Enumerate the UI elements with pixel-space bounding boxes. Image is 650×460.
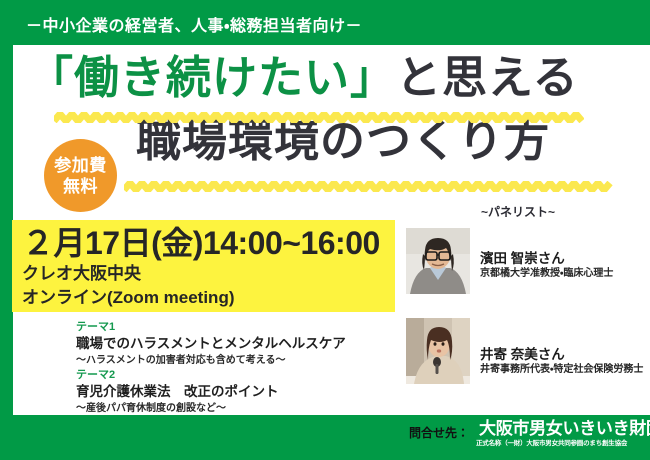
panelist-affiliation: 井寄事務所代表・特定社会保険労務士 — [480, 360, 643, 375]
theme-title: 職場でのハラスメントとメンタルヘルスケア — [76, 335, 406, 353]
panelist-photo-hamada — [406, 228, 470, 294]
event-date-time: ２月17日(金)14:00~16:00 — [22, 224, 395, 262]
title-line-1-rest: と思える — [396, 52, 579, 103]
theme-item: テーマ1 職場でのハラスメントとメンタルヘルスケア ～ハラスメントの加害者対応も… — [76, 320, 406, 368]
title-line-1: 「働き続けたい」と思える — [28, 52, 579, 104]
target-audience-label: －中小企業の経営者、人事・総務担当者向け－ — [26, 12, 362, 36]
event-info-block: ２月17日(金)14:00~16:00 クレオ大阪中央 オンライン(Zoom m… — [12, 220, 395, 312]
themes-block: テーマ1 職場でのハラスメントとメンタルヘルスケア ～ハラスメントの加害者対応も… — [76, 320, 406, 416]
organization-formal-name: 正式名称（一財）大阪市男女共同参画のまち創生協会 — [476, 439, 648, 449]
organization-name: 大阪市男女いきいき財団 — [479, 419, 650, 438]
badge-line-2: 無料 — [63, 176, 98, 197]
panelist-entry: 濱田 智崇さん 京都橘大学准教授・臨床心理士 — [406, 228, 650, 300]
contact-label: 問合せ先： — [409, 424, 469, 441]
event-online: オンライン(Zoom meeting) — [22, 286, 395, 310]
logo-main-row: 大阪市男女いきいき財団 — [476, 419, 648, 438]
theme-subtitle: ～産後パパ育休制度の創設など～ — [76, 401, 406, 416]
theme-title: 育児介護休業法 改正のポイント — [76, 383, 406, 401]
panelist-photo-iyori — [406, 318, 470, 384]
panelist-affiliation: 京都橘大学准教授・臨床心理士 — [480, 264, 613, 279]
title-quoted-phrase: 「働き続けたい」 — [28, 52, 396, 103]
event-venue: クレオ大阪中央 — [22, 262, 395, 286]
panelist-entry: 井寄 奈美さん 井寄事務所代表・特定社会保険労務士 — [406, 318, 650, 390]
theme-label: テーマ2 — [76, 368, 406, 383]
event-flyer: －中小企業の経営者、人事・総務担当者向け－ 「働き続けたい」と思える 職場環境の… — [0, 0, 650, 460]
zigzag-underline-top — [54, 112, 584, 123]
theme-label: テーマ1 — [76, 320, 406, 335]
free-admission-badge: 参加費 無料 — [44, 139, 117, 212]
theme-item: テーマ2 育児介護休業法 改正のポイント ～産後パパ育休制度の創設など～ — [76, 368, 406, 416]
zigzag-underline-bottom — [124, 181, 614, 192]
organization-logo: 大阪市男女いきいき財団 正式名称（一財）大阪市男女共同参画のまち創生協会 — [476, 419, 648, 449]
theme-subtitle: ～ハラスメントの加害者対応も含めて考える～ — [76, 353, 406, 368]
panelists-heading: ~パネリスト~ — [481, 203, 555, 220]
badge-line-1: 参加費 — [54, 155, 107, 176]
